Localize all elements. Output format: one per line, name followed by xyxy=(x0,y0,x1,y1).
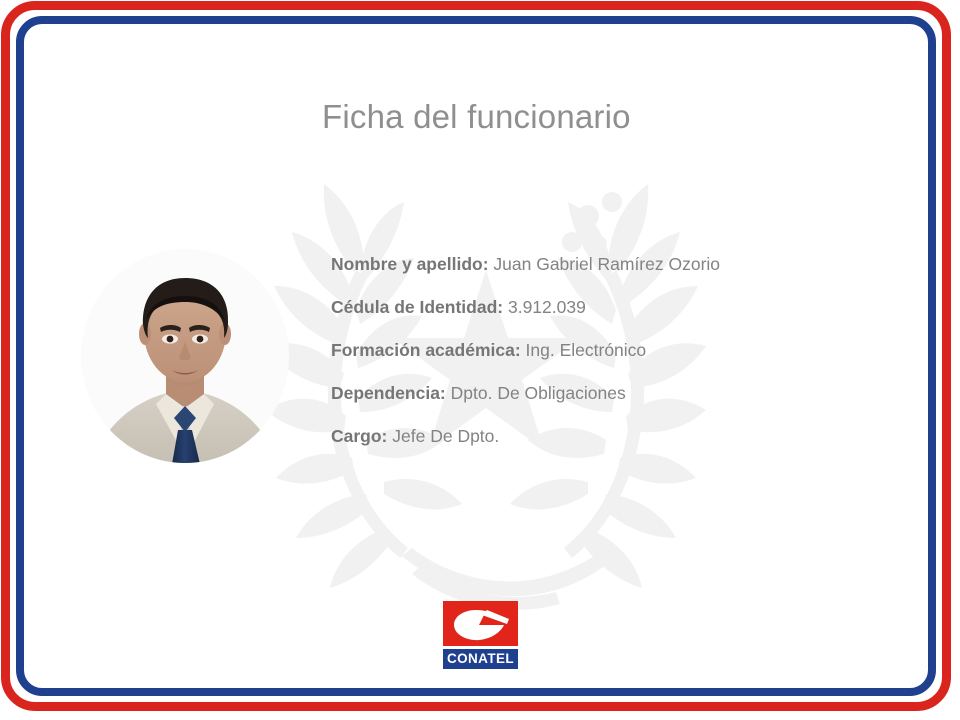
detail-value-nombre: Juan Gabriel Ramírez Ozorio xyxy=(493,254,720,274)
detail-row: Cédula de Identidad: 3.912.039 xyxy=(331,294,891,337)
detail-label-nombre: Nombre y apellido: xyxy=(331,254,489,274)
employee-photo xyxy=(80,248,290,464)
detail-row: Nombre y apellido: Juan Gabriel Ramírez … xyxy=(331,251,891,294)
detail-value-formacion: Ing. Electrónico xyxy=(526,340,647,360)
detail-label-cedula: Cédula de Identidad: xyxy=(331,297,503,317)
detail-label-formacion: Formación académica: xyxy=(331,340,521,360)
detail-value-cedula: 3.912.039 xyxy=(508,297,586,317)
page-title: Ficha del funcionario xyxy=(322,98,631,136)
conatel-disc-icon xyxy=(443,601,518,646)
detail-row: Dependencia: Dpto. De Obligaciones xyxy=(331,380,891,423)
detail-value-dependencia: Dpto. De Obligaciones xyxy=(451,383,626,403)
slide-canvas: Ficha del funcionario xyxy=(0,0,960,720)
detail-label-dependencia: Dependencia: xyxy=(331,383,446,403)
conatel-logo: CONATEL xyxy=(443,601,518,669)
detail-label-cargo: Cargo: xyxy=(331,426,387,446)
detail-row: Formación académica: Ing. Electrónico xyxy=(331,337,891,380)
employee-details-list: Nombre y apellido: Juan Gabriel Ramírez … xyxy=(331,251,891,466)
conatel-wordmark: CONATEL xyxy=(443,649,518,669)
detail-row: Cargo: Jefe De Dpto. xyxy=(331,423,891,466)
detail-value-cargo: Jefe De Dpto. xyxy=(392,426,499,446)
